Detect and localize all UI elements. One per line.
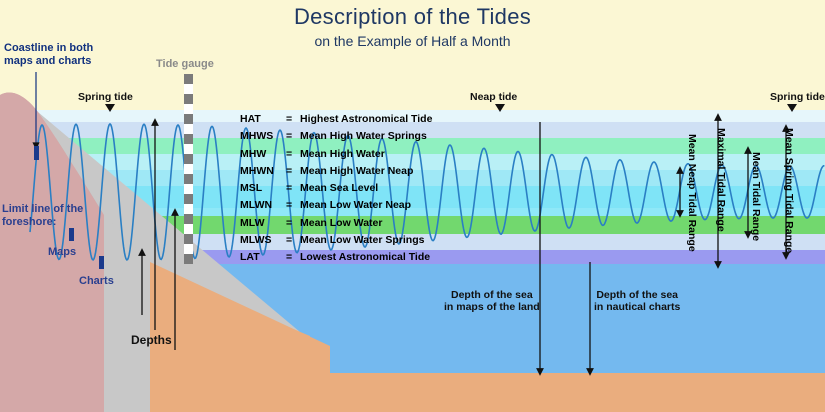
legend-row: MLWS=Mean Low Water Springs (240, 234, 432, 251)
spring-tide-right-marker (786, 104, 798, 113)
legend-row: MHWS=Mean High Water Springs (240, 130, 432, 147)
legend-abbr: HAT (240, 113, 286, 125)
coastline-tick (34, 146, 39, 160)
mean-range-label: Mean Tidal Range (750, 152, 762, 241)
legend-row: MLWN=Mean Low Water Neap (240, 199, 432, 216)
charts-label: Charts (79, 275, 114, 288)
legend-text: Mean Low Water (300, 217, 382, 229)
charts-tick (99, 256, 104, 269)
page-title: Description of the Tides (0, 4, 825, 30)
legend-text: Lowest Astronomical Tide (300, 251, 430, 263)
spring-tide-left-marker (104, 104, 116, 113)
legend-row: LAT=Lowest Astronomical Tide (240, 251, 432, 268)
legend-abbr: MHWN (240, 165, 286, 177)
datum-legend: HAT=Highest Astronomical TideMHWS=Mean H… (240, 113, 432, 269)
limit-line-label: Limit line of the foreshore: (2, 203, 83, 228)
page-subtitle: on the Example of Half a Month (0, 33, 825, 49)
legend-abbr: MLW (240, 217, 286, 229)
coastline-label: Coastline in both maps and charts (4, 42, 93, 67)
depths-label: Depths (131, 334, 172, 348)
legend-row: MHW=Mean High Water (240, 148, 432, 165)
legend-text: Mean Sea Level (300, 182, 378, 194)
legend-text: Mean Low Water Neap (300, 199, 411, 211)
tide-diagram: Description of the Tides on the Example … (0, 0, 825, 412)
legend-equals: = (286, 199, 300, 211)
legend-row: MLW=Mean Low Water (240, 217, 432, 234)
legend-row: HAT=Highest Astronomical Tide (240, 113, 432, 130)
legend-text: Mean High Water Neap (300, 165, 413, 177)
spring-tide-left-label: Spring tide (78, 91, 133, 103)
mean-spring-range-label: Mean Spring Tidal Range (783, 128, 795, 253)
legend-abbr: MHW (240, 148, 286, 160)
legend-equals: = (286, 165, 300, 177)
legend-equals: = (286, 217, 300, 229)
depth-maps-label: Depth of the sea in maps of the land (444, 289, 540, 313)
legend-abbr: MLWS (240, 234, 286, 246)
legend-text: Highest Astronomical Tide (300, 113, 432, 125)
legend-text: Mean High Water (300, 148, 385, 160)
mean-neap-range-label: Mean Neap Tidal Range (686, 134, 698, 252)
legend-abbr: MLWN (240, 199, 286, 211)
legend-equals: = (286, 251, 300, 263)
legend-text: Mean Low Water Springs (300, 234, 424, 246)
legend-text: Mean High Water Springs (300, 130, 427, 142)
legend-abbr: MHWS (240, 130, 286, 142)
legend-equals: = (286, 130, 300, 142)
legend-abbr: MSL (240, 182, 286, 194)
spring-tide-right-label: Spring tide (770, 91, 825, 103)
legend-row: MSL=Mean Sea Level (240, 182, 432, 199)
legend-equals: = (286, 113, 300, 125)
legend-row: MHWN=Mean High Water Neap (240, 165, 432, 182)
maps-tick (69, 228, 74, 241)
maximal-range-label: Maximal Tidal Range (715, 128, 727, 232)
legend-equals: = (286, 234, 300, 246)
neap-tide-marker (494, 104, 506, 113)
legend-abbr: LAT (240, 251, 286, 263)
neap-tide-label: Neap tide (470, 91, 517, 103)
tide-gauge-label: Tide gauge (156, 58, 214, 71)
maps-label: Maps (48, 246, 76, 259)
legend-equals: = (286, 148, 300, 160)
depth-charts-label: Depth of the sea in nautical charts (594, 289, 680, 313)
legend-equals: = (286, 182, 300, 194)
